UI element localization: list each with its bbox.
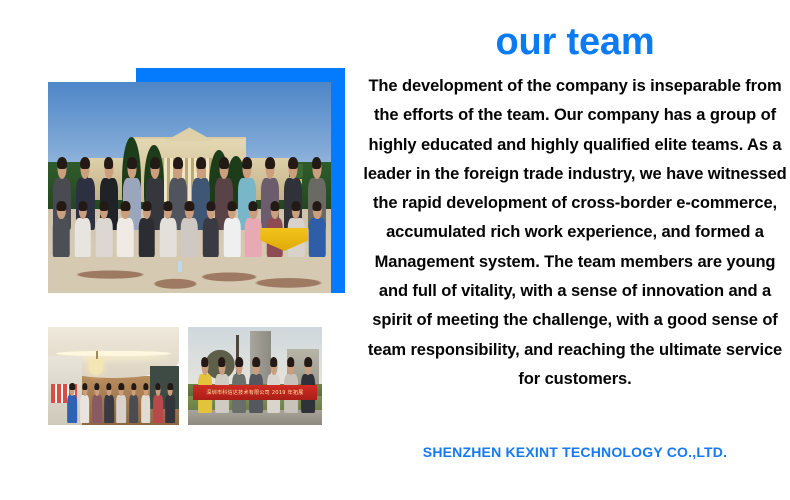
page-title: our team (360, 20, 790, 64)
team-group-photo-outdoor-palace (48, 82, 331, 293)
people-row-lobby (66, 384, 176, 423)
person (116, 384, 128, 423)
person (52, 202, 72, 257)
team-slide: 深圳市科信达技术有限公司 2019 年拓展 our team The devel… (0, 0, 790, 500)
person (152, 384, 164, 423)
person (137, 202, 157, 257)
person (140, 384, 152, 423)
team-photo-lobby (48, 327, 179, 425)
person (67, 384, 79, 423)
lobby-scene (48, 327, 179, 425)
person (116, 202, 136, 257)
person (103, 384, 115, 423)
person (308, 202, 328, 257)
red-banner-text: 深圳市科信达技术有限公司 2019 年拓展 (193, 385, 316, 400)
outdoor-palace-scene (48, 82, 331, 293)
person (158, 202, 178, 257)
text-column: our team The development of the company … (360, 0, 790, 500)
person (79, 384, 91, 423)
team-photo-red-banner: 深圳市科信达技术有限公司 2019 年拓展 (188, 327, 322, 425)
person (94, 202, 114, 257)
about-team-paragraph: The development of the company is insepa… (363, 72, 787, 394)
water-bottle (178, 261, 182, 272)
person (91, 384, 103, 423)
outdoor-banner-scene: 深圳市科信达技术有限公司 2019 年拓展 (188, 327, 322, 425)
person (164, 384, 176, 423)
person (128, 384, 140, 423)
person (180, 202, 200, 257)
media-column: 深圳市科信达技术有限公司 2019 年拓展 (0, 0, 360, 500)
person (73, 202, 93, 257)
chandelier (89, 359, 103, 375)
person (201, 202, 221, 257)
person (222, 202, 242, 257)
company-name-footer: SHENZHEN KEXINT TECHNOLOGY CO.,LTD. (360, 444, 790, 460)
